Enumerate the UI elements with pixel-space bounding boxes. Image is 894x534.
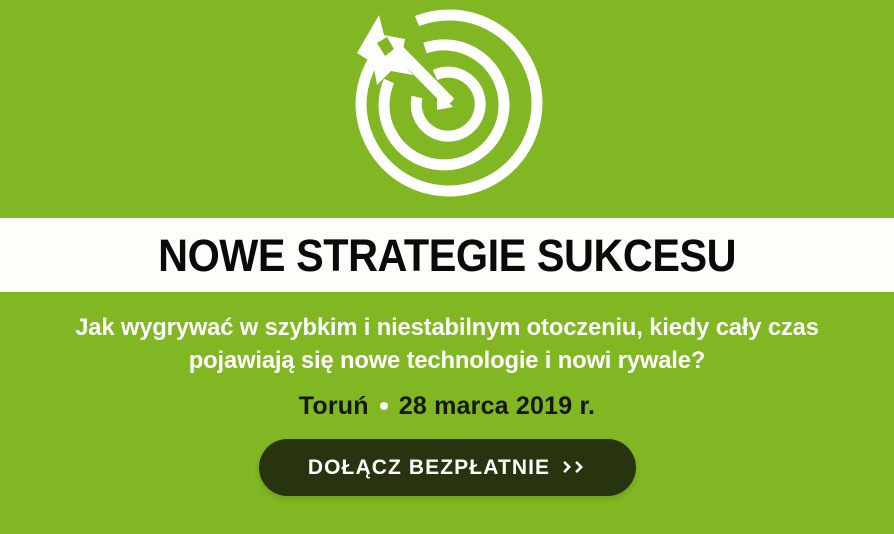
title-band: NOWE STRATEGIE SUKCESU	[0, 218, 894, 292]
event-city: Toruń	[299, 391, 369, 421]
banner-content: Jak wygrywać w szybkim i niestabilnym ot…	[0, 292, 894, 534]
double-chevron-right-icon	[563, 460, 586, 475]
join-free-button-label: DOŁĄCZ BEZPŁATNIE	[308, 456, 550, 480]
promo-banner: NOWE STRATEGIE SUKCESU Jak wygrywać w sz…	[0, 0, 894, 534]
join-free-button[interactable]: DOŁĄCZ BEZPŁATNIE	[259, 439, 636, 496]
banner-subtitle: Jak wygrywać w szybkim i niestabilnym ot…	[44, 312, 849, 377]
event-date: 28 marca 2019 r.	[399, 391, 595, 421]
event-details: Toruń 28 marca 2019 r.	[299, 391, 595, 421]
page-title: NOWE STRATEGIE SUKCESU	[147, 233, 747, 278]
bullet-separator-icon	[380, 402, 388, 410]
hero-icon-area	[0, 0, 894, 218]
target-with-arrow-icon	[349, 9, 545, 209]
cta-area: DOŁĄCZ BEZPŁATNIE	[0, 439, 894, 496]
